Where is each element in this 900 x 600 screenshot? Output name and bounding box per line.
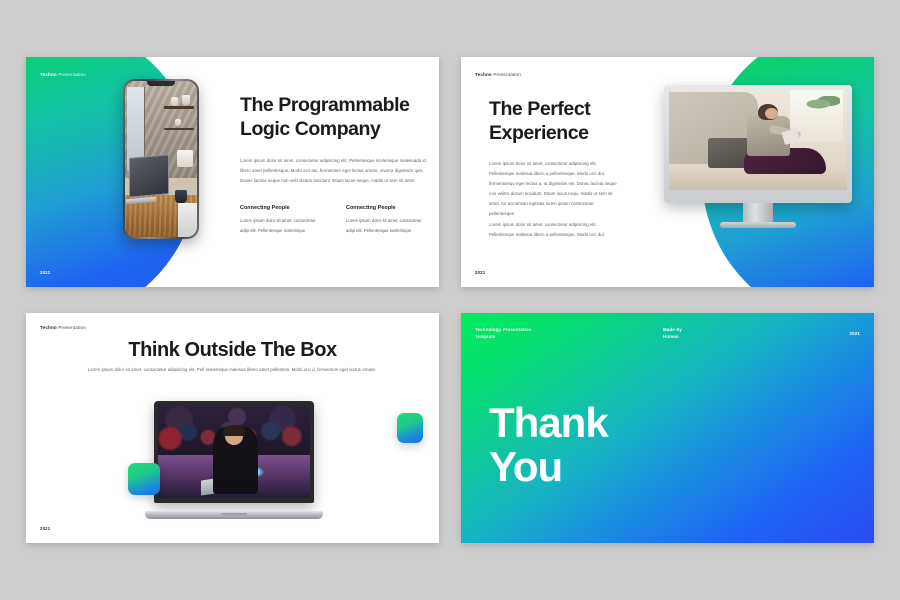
jar-three <box>175 119 181 126</box>
iphone-notch <box>147 81 175 86</box>
slide-subtitle: Lorem ipsum dolor sit amet, consectetur … <box>82 367 382 374</box>
gradient-square-left <box>128 463 160 495</box>
slide-body-text-1: Lorem ipsum dolor sit amet, consectetur … <box>489 159 619 219</box>
laptop-on-desk <box>129 156 169 196</box>
thank-you-line-2: You <box>489 445 608 489</box>
macbook-lid <box>154 401 314 503</box>
brand-rest: Presentation <box>57 325 86 330</box>
column-heading-1: Connecting People <box>240 205 290 211</box>
slide-deck-grid: Techno Presentation <box>0 0 900 600</box>
slide-thumbnail-1[interactable]: Techno Presentation <box>26 57 439 287</box>
iphone-mockup <box>123 79 199 239</box>
iphone-screen <box>125 81 197 237</box>
brand-rest: Presentation <box>492 72 521 77</box>
slide-title-line-1: The Programmable <box>240 93 430 117</box>
credit-label: Made by Human <box>663 326 682 341</box>
macbook-mockup <box>145 401 323 519</box>
brand-bold: Techno <box>475 72 492 77</box>
column-heading-2: Connecting People <box>346 205 396 211</box>
shelf-upper <box>164 106 194 109</box>
hackathon-photo <box>158 405 310 498</box>
slide-brand-label: Techno Presentation <box>40 325 86 330</box>
thank-you-line-1: Thank <box>489 401 608 445</box>
imac-stand-neck <box>743 203 773 223</box>
macbook-base <box>145 511 323 519</box>
slide-thumbnail-2[interactable]: Techno Presentation <box>461 57 874 287</box>
slide-body-text: Lorem ipsum dolor sit amet, consectetur … <box>240 156 427 186</box>
plant-leaves <box>804 96 840 112</box>
macbook-display <box>158 405 310 498</box>
jar-two <box>182 95 190 105</box>
slide-thumbnail-4[interactable]: Technology Presentation Template Made by… <box>461 313 874 543</box>
chair <box>178 203 197 237</box>
template-label-line-2: Template <box>475 333 532 340</box>
living-room-photo <box>669 90 847 190</box>
slide-title-line-2: Experience <box>489 121 659 145</box>
column-text-1: Lorem ipsum dolor sit amet, consectetur … <box>240 216 324 236</box>
coffee-mug <box>175 190 187 203</box>
thank-you-title: Thank You <box>489 401 608 489</box>
slide-title: The Programmable Logic Company <box>240 93 430 142</box>
slide-year-label: 2021 <box>40 526 50 531</box>
tablet-device <box>781 128 800 145</box>
slide-title: Think Outside The Box <box>26 338 439 363</box>
brand-bold: Techno <box>40 72 57 77</box>
credit-label-line-2: Human <box>663 333 682 340</box>
brand-rest: Presentation <box>57 72 86 77</box>
coffee-machine <box>177 150 193 167</box>
slide-title-line-1: The Perfect <box>489 97 659 121</box>
presentation-template-label: Technology Presentation Template <box>475 326 532 341</box>
slide-thumbnail-3[interactable]: Techno Presentation Think Outside The Bo… <box>26 313 439 543</box>
gradient-square-right <box>397 413 423 443</box>
imac-screen-bezel <box>664 85 852 203</box>
imac-display <box>669 90 847 190</box>
woman-face <box>765 108 777 119</box>
jar-one <box>171 97 178 106</box>
slide-year-label: 2021 <box>475 270 485 275</box>
developer-hair <box>223 425 244 436</box>
slide-year-label: 2021 <box>849 331 860 336</box>
laptop-screen <box>129 154 169 198</box>
slide-title-line-2: Logic Company <box>240 117 430 141</box>
slide-title: The Perfect Experience <box>489 97 659 146</box>
slide-year-label: 2021 <box>40 270 50 275</box>
imac-stand-foot <box>720 222 796 228</box>
slide-body-text-2: Lorem ipsum dolor sit amet, consectetur … <box>489 220 619 240</box>
slide-brand-label: Techno Presentation <box>40 72 86 77</box>
workspace-photo <box>125 81 197 237</box>
macbook-lip-notch <box>221 513 247 515</box>
imac-mockup <box>664 85 852 233</box>
column-text-2: Lorem ipsum dolor sit amet, consectetur … <box>346 216 430 236</box>
brand-bold: Techno <box>40 325 57 330</box>
template-label-line-1: Technology Presentation <box>475 326 532 333</box>
slide-brand-label: Techno Presentation <box>475 72 521 77</box>
credit-label-line-1: Made by <box>663 326 682 333</box>
